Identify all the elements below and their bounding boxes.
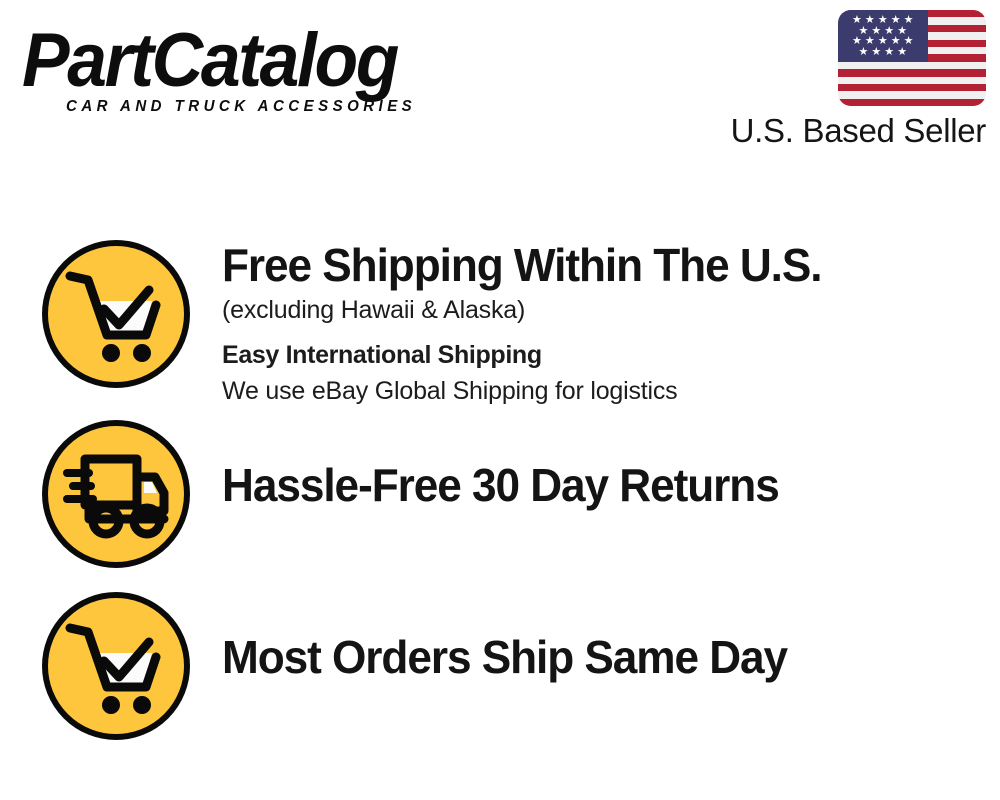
flag-stripe (838, 77, 986, 84)
feature-headline: Most Orders Ship Same Day (222, 634, 969, 682)
feature-sub-strong: Easy International Shipping (222, 340, 1000, 371)
flag-stripe (838, 91, 986, 98)
feature-text: Most Orders Ship Same Day (190, 592, 1000, 682)
feature-row: Free Shipping Within The U.S. (excluding… (0, 240, 1000, 400)
shopping-cart-check-icon (42, 240, 190, 388)
brand-wordmark: PartCatalog (22, 26, 464, 96)
feature-text: Free Shipping Within The U.S. (excluding… (190, 240, 1000, 408)
flag-stripe (838, 62, 986, 69)
us-based-seller-block: ★ ★ ★ ★ ★ ★ ★ ★ ★ ★ ★ ★ ★ ★ ★ ★ ★ ★ U.S.… (716, 10, 986, 150)
star-glyph: ★ ★ ★ ★ (858, 47, 907, 58)
feature-row: Most Orders Ship Same Day (0, 592, 1000, 744)
flag-stripe (838, 69, 986, 76)
flag-canton: ★ ★ ★ ★ ★ ★ ★ ★ ★ ★ ★ ★ ★ ★ ★ ★ ★ ★ (838, 10, 928, 62)
banner-header: PartCatalog CAR AND TRUCK ACCESSORIES (0, 0, 1000, 175)
brand-tagline: CAR AND TRUCK ACCESSORIES (66, 98, 479, 116)
feature-headline: Hassle-Free 30 Day Returns (222, 462, 969, 510)
shopping-cart-check-icon (42, 592, 190, 740)
flag-stripe (838, 84, 986, 91)
brand-logo: PartCatalog CAR AND TRUCK ACCESSORIES (22, 26, 492, 116)
us-flag-icon: ★ ★ ★ ★ ★ ★ ★ ★ ★ ★ ★ ★ ★ ★ ★ ★ ★ ★ (838, 10, 986, 106)
flag-star-row: ★ ★ ★ ★ (842, 47, 924, 58)
feature-headline: Free Shipping Within The U.S. (222, 242, 969, 290)
feature-sub-detail: We use eBay Global Shipping for logistic… (222, 376, 1000, 407)
flag-stripe (838, 99, 986, 106)
feature-row: Hassle-Free 30 Day Returns (0, 420, 1000, 572)
feature-subnote: (excluding Hawaii & Alaska) (222, 295, 1000, 326)
promo-banner: PartCatalog CAR AND TRUCK ACCESSORIES (0, 0, 1000, 800)
delivery-truck-icon (42, 420, 190, 568)
feature-text: Hassle-Free 30 Day Returns (190, 420, 1000, 510)
us-based-seller-label: U.S. Based Seller (716, 112, 986, 150)
